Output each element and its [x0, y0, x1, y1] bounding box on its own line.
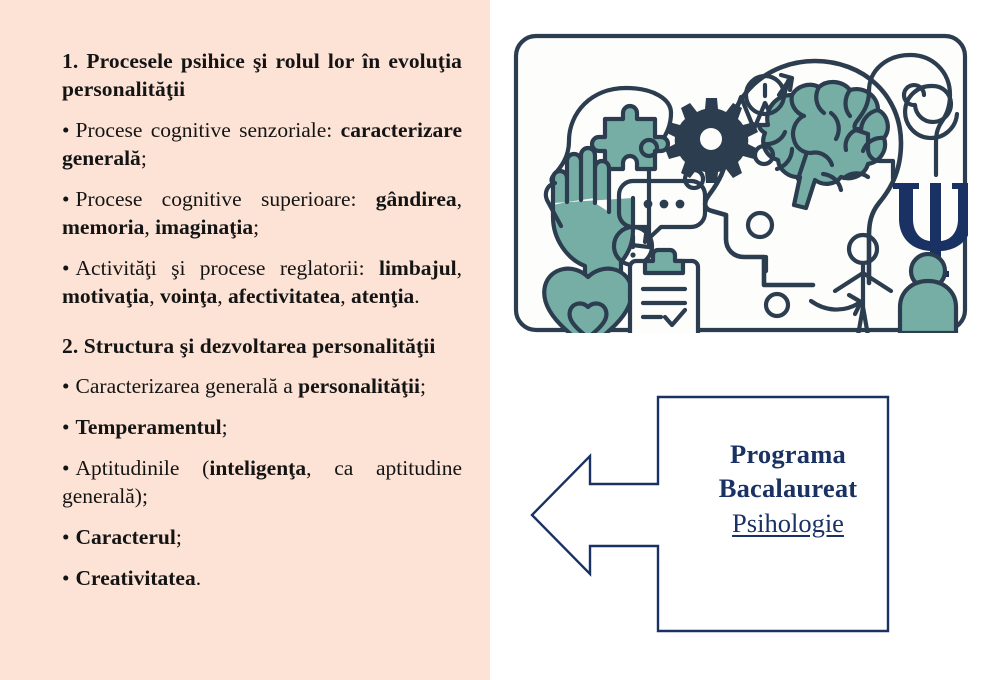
bullet-glyph: •: [62, 456, 70, 480]
bullet-bold: afectivitatea: [228, 284, 340, 308]
bullet-glyph: •: [62, 187, 70, 211]
bullet-tail: ;: [141, 146, 147, 170]
callout-text: Programa Bacalaureat Psihologie: [688, 437, 888, 540]
bullet-lead: Activităţi şi procese reglatorii:: [76, 256, 379, 280]
list-item: •Caracterul;: [62, 524, 462, 552]
bullet-bold: limbajul: [379, 256, 457, 280]
list-item: •Aptitudinile (inteligenţa, ca aptitudin…: [62, 455, 462, 511]
bullet-glyph: •: [62, 415, 70, 439]
bullet-glyph: •: [62, 256, 70, 280]
bullet-glyph: •: [62, 525, 70, 549]
bullet-sep: ,: [457, 187, 462, 211]
section-1-heading: 1. Procesele psihice şi rolul lor în evo…: [62, 48, 462, 104]
bullet-bold: gândirea: [376, 187, 457, 211]
bullet-bold: imaginaţia: [155, 215, 253, 239]
list-item: •Temperamentul;: [62, 414, 462, 442]
list-item: •Procese cognitive senzoriale: caracteri…: [62, 117, 462, 173]
clipboard-check-icon: [630, 250, 698, 333]
bullet-bold: Caracterul: [76, 525, 176, 549]
bullet-bold: Temperamentul: [76, 415, 222, 439]
bullet-glyph: •: [62, 566, 70, 590]
callout-line-2: Bacalaureat: [688, 471, 888, 505]
psychology-illustration: [513, 33, 968, 333]
slide-root: 1. Procesele psihice şi rolul lor în evo…: [0, 0, 983, 680]
bullet-tail: ;: [420, 374, 426, 398]
bullet-sep: ,: [144, 215, 155, 239]
bullet-tail: ;: [222, 415, 228, 439]
bullet-tail: ;: [253, 215, 259, 239]
section-2-heading: 2. Structura şi dezvoltarea personalităţ…: [62, 333, 462, 361]
list-item: •Caracterizarea generală a personalităţi…: [62, 373, 462, 401]
left-content-panel: 1. Procesele psihice şi rolul lor în evo…: [0, 0, 490, 680]
heart-icon: [544, 269, 632, 333]
callout-line-1: Programa: [688, 437, 888, 471]
bullet-bold: motivaţia: [62, 284, 149, 308]
bullet-tail: .: [196, 566, 201, 590]
bullet-sep: ,: [340, 284, 351, 308]
bullet-tail: .: [414, 284, 419, 308]
bullet-bold: inteligenţa: [209, 456, 306, 480]
bullet-sep: ,: [217, 284, 228, 308]
bullet-glyph: •: [62, 374, 70, 398]
bullet-bold: voinţa: [160, 284, 217, 308]
bullet-sep: ,: [149, 284, 160, 308]
callout-line-3: Psihologie: [688, 506, 888, 540]
bullet-tail: ;: [176, 525, 182, 549]
list-item: •Procese cognitive superioare: gândirea,…: [62, 186, 462, 242]
bullet-glyph: •: [62, 118, 70, 142]
list-item: •Activităţi şi procese reglatorii: limba…: [62, 255, 462, 311]
bullet-lead: Caracterizarea generală a: [76, 374, 299, 398]
syllabus-text-column: 1. Procesele psihice şi rolul lor în evo…: [62, 48, 462, 606]
bullet-bold: Creativitatea: [76, 566, 196, 590]
bullet-bold: personalităţii: [298, 374, 420, 398]
bullet-bold: atenţia: [351, 284, 414, 308]
bullet-lead: Aptitudinile (: [76, 456, 210, 480]
bullet-bold: memoria: [62, 215, 144, 239]
bullet-sep: ,: [457, 256, 462, 280]
bullet-lead: Procese cognitive senzoriale:: [76, 118, 341, 142]
bullet-lead: Procese cognitive superioare:: [76, 187, 376, 211]
list-item: •Creativitatea.: [62, 565, 462, 593]
